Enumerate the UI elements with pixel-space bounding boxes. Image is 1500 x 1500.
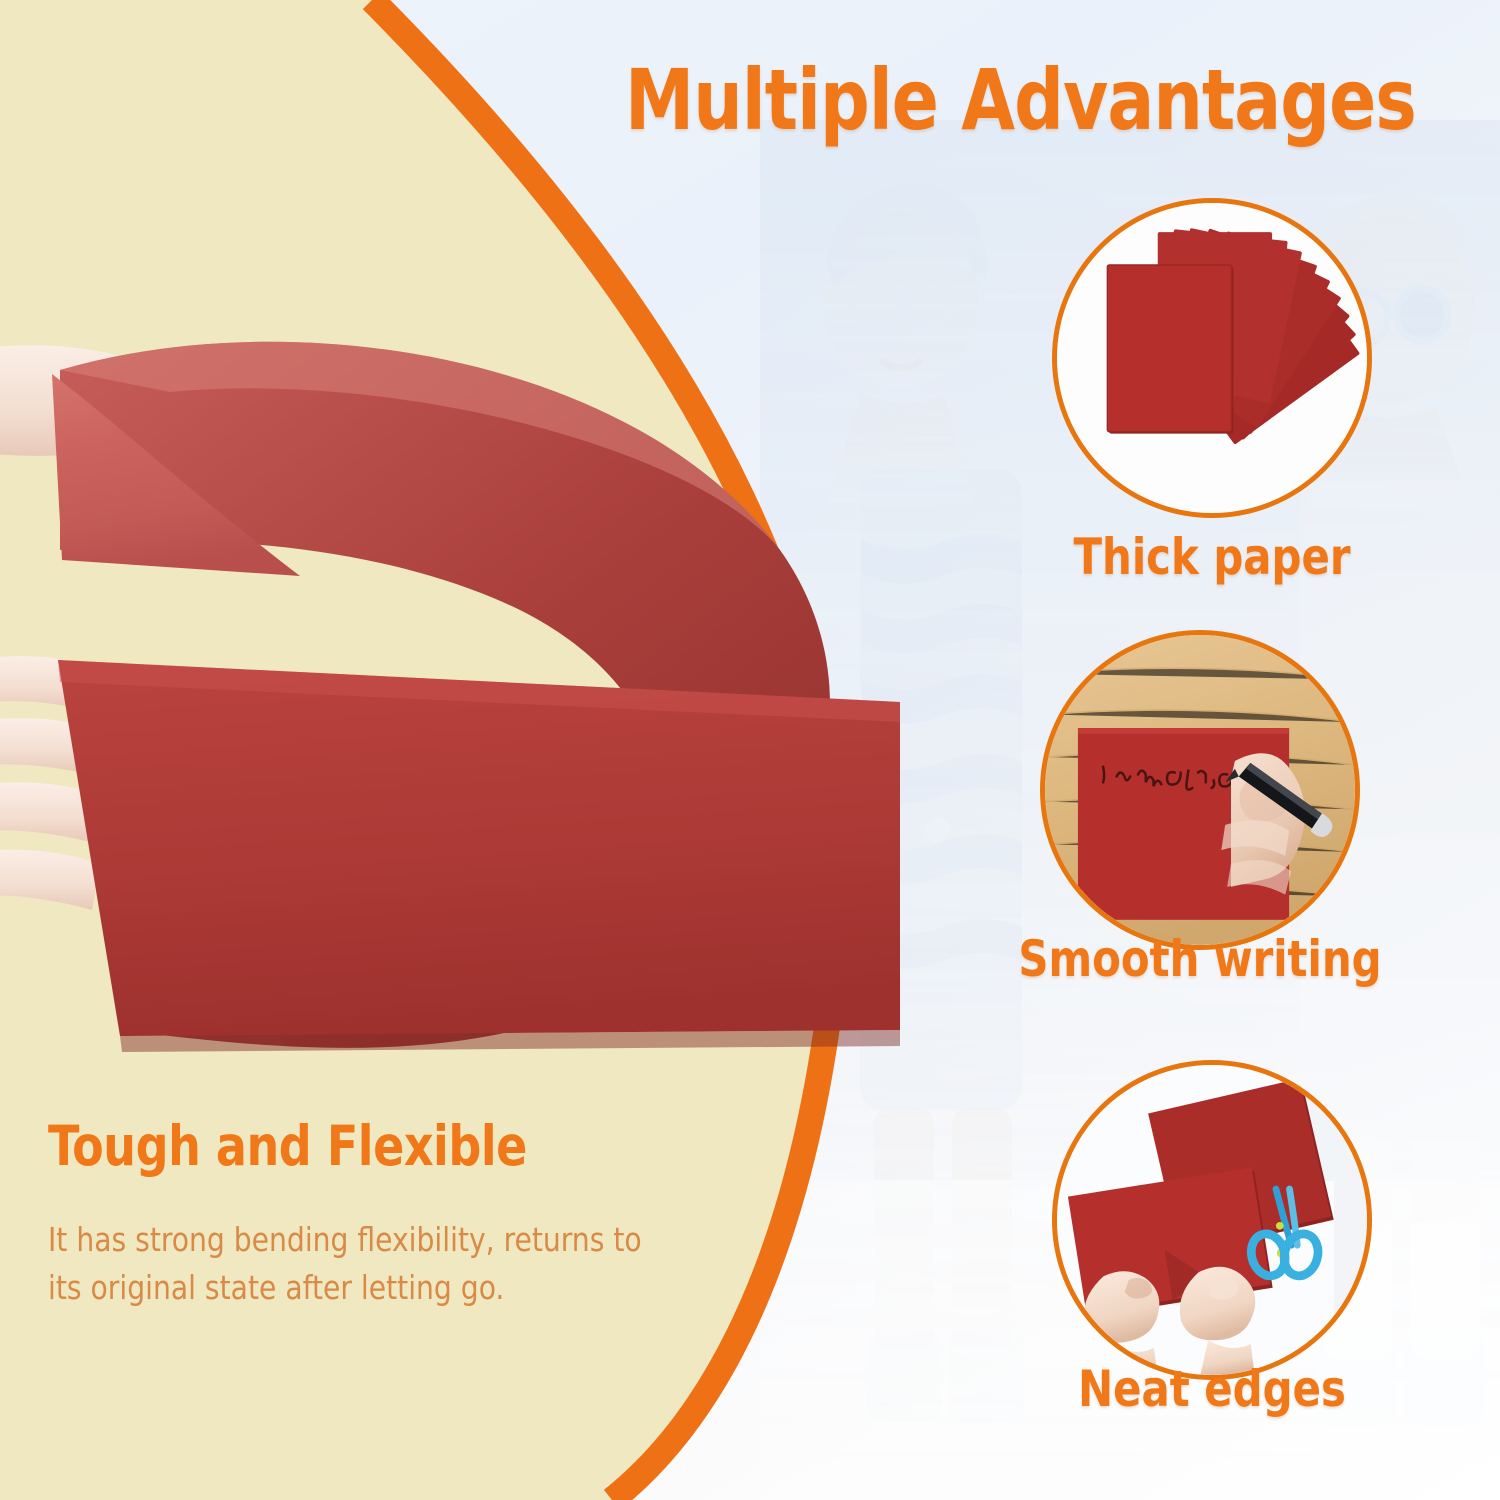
circle-ring-thick-paper: [1052, 198, 1372, 518]
feature-thick-paper-photo: [1052, 198, 1372, 518]
circle-ring-neat-edges: [1052, 1060, 1372, 1380]
stack-of-cardstock-illustration: [1057, 203, 1367, 513]
bottom-sheet: [58, 660, 900, 1036]
feature-neat-edges-photo: [1052, 1060, 1372, 1380]
feature-thick-paper: Thick paper: [1052, 198, 1372, 518]
folding-cardstock-illustration: [1057, 1065, 1367, 1375]
left-text-block: Tough and Flexible It has strong bending…: [48, 1118, 778, 1311]
left-body-text: It has strong bending flexibility, retur…: [48, 1216, 742, 1312]
left-heading: Tough and Flexible: [48, 1118, 727, 1176]
page-title: Multiple Advantages: [625, 58, 1425, 142]
hero-bent-cardstock-photo: [0, 330, 900, 1070]
circle-ring-smooth-writing: [1040, 630, 1360, 950]
front-sheet: [1107, 265, 1233, 434]
feature-label-neat-edges: Neat edges: [1078, 1360, 1346, 1418]
feature-neat-edges: Neat edges: [1052, 1060, 1372, 1380]
feature-label-thick-paper: Thick paper: [1074, 528, 1351, 586]
infographic-canvas: Multiple Advantages Tough and Flexible I…: [0, 0, 1500, 1500]
feature-smooth-writing-photo: [1040, 630, 1360, 950]
feature-label-smooth-writing: Smooth writing: [1018, 930, 1381, 988]
feature-smooth-writing: Smooth writing: [1040, 630, 1360, 950]
hand-writing-illustration: [1045, 635, 1355, 945]
